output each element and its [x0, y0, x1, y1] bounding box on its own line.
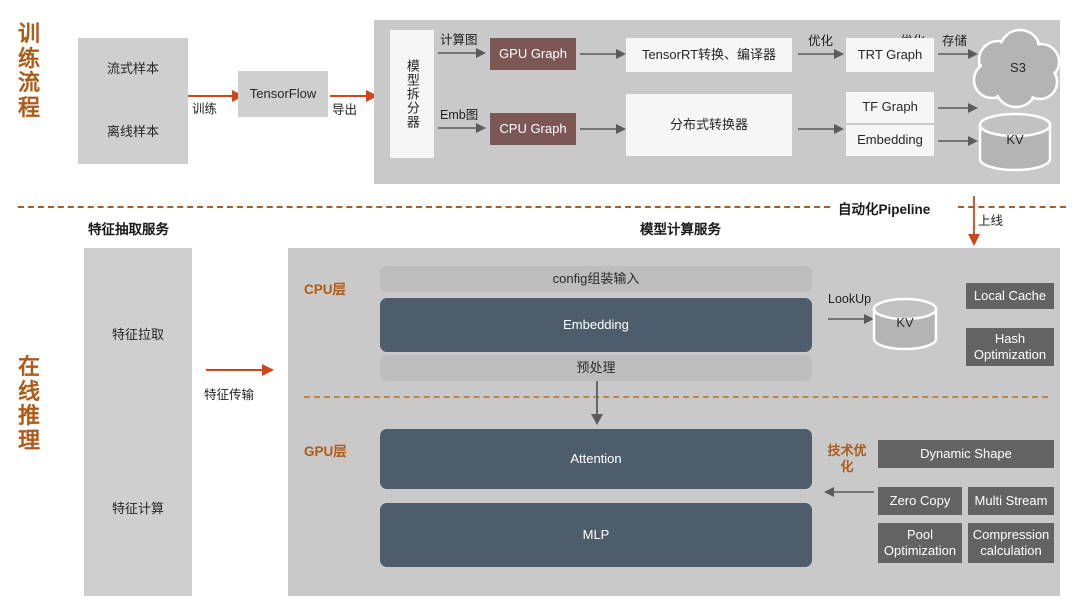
title-char: 练 — [8, 47, 50, 72]
cpu-row-preprocess: 预处理 — [380, 355, 812, 381]
cpu-gpu-divider — [304, 396, 1048, 398]
cpu-row-embedding-label: Embedding — [563, 317, 629, 333]
cpu-row-embedding: Embedding — [380, 298, 812, 352]
kv-top-label: KV — [1006, 132, 1023, 148]
section-title-training: 训 练 流 程 — [8, 22, 50, 121]
title-char: 流 — [8, 71, 50, 96]
feature-compute-label: 特征计算 — [112, 501, 164, 517]
gpu-graph-box: GPU Graph — [490, 38, 576, 70]
samples-offline-label: 离线样本 — [107, 124, 159, 140]
arrow-tech-optimization — [822, 485, 874, 499]
cpu-row-preprocess-label: 预处理 — [576, 360, 615, 376]
kv-label-wrap: KV — [985, 130, 1045, 150]
gpu-layer-label: GPU层 — [304, 440, 347, 460]
opt-zero-copy-box: Zero Copy — [878, 487, 962, 515]
distributed-converter-label: 分布式转换器 — [670, 117, 748, 133]
arrow-lookup — [828, 312, 874, 326]
s3-label: S3 — [1010, 60, 1026, 76]
local-cache-label: Local Cache — [974, 288, 1046, 304]
arrow-cpu-to-gpu — [589, 381, 605, 425]
cpu-graph-label: CPU Graph — [499, 121, 566, 137]
optimize-label-dup: 优化 — [808, 30, 833, 49]
samples-streaming-label: 流式样本 — [107, 61, 159, 77]
model-splitter-label: 模型拆分器 — [405, 59, 419, 129]
tech-optimization-label: 技术优化 — [824, 443, 870, 476]
opt-multi-stream-label: Multi Stream — [975, 493, 1048, 509]
gpu-row-attention: Attention — [380, 429, 812, 489]
title-char: 理 — [8, 429, 50, 454]
arrow-converter-to-graphs — [798, 122, 844, 136]
embedding-graph-box: Embedding — [846, 125, 934, 156]
opt-multi-stream-box: Multi Stream — [968, 487, 1054, 515]
lookup-label: LookUp — [828, 292, 871, 306]
local-cache-box: Local Cache — [966, 283, 1054, 309]
opt-compression-label: Compression calculation — [968, 527, 1054, 560]
divider-left — [18, 206, 830, 208]
gpu-row-attention-label: Attention — [570, 451, 621, 467]
tensorrt-label: TensorRT转换、编译器 — [642, 47, 776, 63]
samples-box: 流式样本 离线样本 — [78, 38, 188, 164]
tensorrt-box: TensorRT转换、编译器 — [626, 38, 792, 72]
tech-optimization-text: 技术优化 — [827, 443, 866, 474]
diagram-canvas: 训 练 流 程 流式样本 离线样本 训练 TensorFlow 导出 模型拆分器… — [0, 0, 1080, 606]
tf-graph-label: TF Graph — [862, 99, 918, 115]
hash-optimization-label: Hash Optimization — [966, 331, 1054, 364]
opt-pool-optimization-label: Pool Optimization — [878, 527, 962, 560]
arrow-to-cpu-graph — [438, 121, 486, 135]
arrow-feature-transfer — [206, 362, 274, 378]
title-char: 推 — [8, 404, 50, 429]
embedding-graph-label: Embedding — [857, 132, 923, 148]
kv-store-label: KV — [896, 315, 913, 331]
gpu-row-mlp: MLP — [380, 503, 812, 567]
opt-zero-copy-label: Zero Copy — [890, 493, 951, 509]
cpu-graph-box: CPU Graph — [490, 113, 576, 145]
tensorflow-label: TensorFlow — [250, 86, 316, 102]
opt-compression-box: Compression calculation — [968, 523, 1054, 563]
feature-service-title: 特征抽取服务 — [88, 218, 169, 238]
tensorflow-box: TensorFlow — [238, 71, 328, 117]
feature-pull-label: 特征拉取 — [112, 327, 164, 343]
trt-graph-label: TRT Graph — [858, 47, 923, 63]
s3-label-wrap: S3 — [988, 58, 1048, 78]
gpu-row-mlp-label: MLP — [583, 527, 610, 543]
tf-graph-box: TF Graph — [846, 92, 934, 123]
opt-dynamic-shape-label: Dynamic Shape — [920, 446, 1012, 462]
trt-graph-box: TRT Graph — [846, 38, 934, 72]
arrow-export-label: 导出 — [332, 99, 357, 118]
title-char: 训 — [8, 22, 50, 47]
arrow-gpu-to-tensorrt — [580, 47, 626, 61]
arrow-optimize — [798, 47, 844, 61]
model-service-title: 模型计算服务 — [640, 218, 721, 238]
arrow-embedding-to-kv — [938, 134, 978, 148]
kv-store-label-wrap: KV — [878, 314, 932, 332]
cpu-row-config: config组装输入 — [380, 266, 812, 292]
title-char: 在 — [8, 355, 50, 380]
title-char: 线 — [8, 380, 50, 405]
opt-dynamic-shape-box: Dynamic Shape — [878, 440, 1054, 468]
feature-service-box: 特征拉取 特征计算 — [84, 248, 192, 596]
opt-pool-optimization-box: Pool Optimization — [878, 523, 962, 563]
title-char: 程 — [8, 96, 50, 121]
section-title-online: 在 线 推 理 — [8, 355, 50, 454]
hash-optimization-box: Hash Optimization — [966, 328, 1054, 366]
gpu-graph-label: GPU Graph — [499, 46, 567, 62]
pipeline-label: 自动化Pipeline — [838, 198, 930, 218]
distributed-converter-box: 分布式转换器 — [626, 94, 792, 156]
cpu-row-config-label: config组装输入 — [553, 271, 640, 287]
arrow-cpu-to-converter — [580, 122, 626, 136]
arrow-to-gpu-graph — [438, 46, 486, 60]
model-splitter-box: 模型拆分器 — [390, 30, 434, 158]
deploy-label: 上线 — [978, 210, 1003, 229]
feature-transfer-label: 特征传输 — [204, 384, 254, 403]
arrow-train-label: 训练 — [192, 98, 217, 117]
cpu-layer-label: CPU层 — [304, 278, 346, 298]
